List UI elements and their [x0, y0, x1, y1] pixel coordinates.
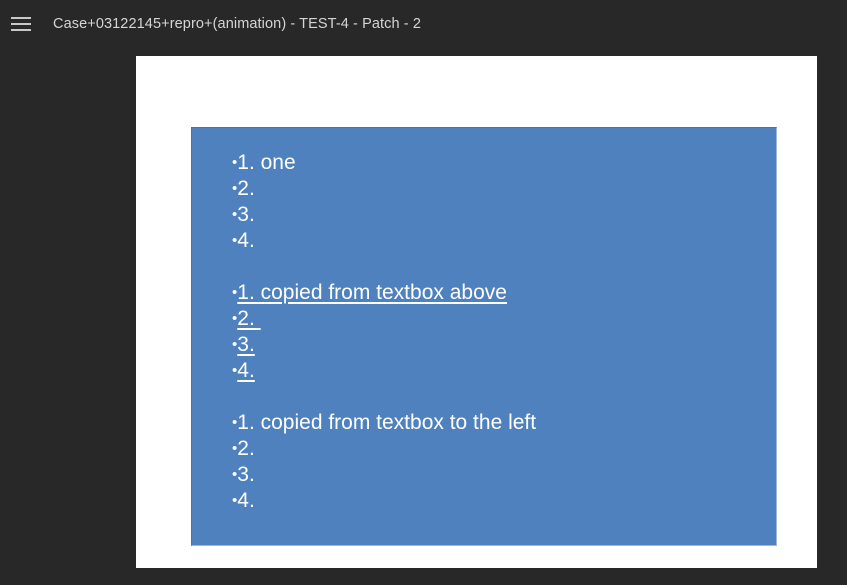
list-item-text: 2.: [237, 177, 255, 200]
bullet-list: •1. one •2. •3. •4. •1. copied from text…: [232, 150, 772, 514]
block-spacer: [232, 254, 772, 280]
list-item-text: 1. copied from textbox to the left: [237, 411, 536, 434]
hamburger-bar-middle: [11, 23, 31, 25]
hamburger-bar-top: [11, 17, 31, 19]
list-item: •1. one: [232, 150, 772, 176]
list-item: •2.: [232, 436, 772, 462]
list-item: •4.: [232, 488, 772, 514]
title-bar: Case+03122145+repro+(animation) - TEST-4…: [0, 0, 847, 48]
list-item-text: 2.: [237, 307, 260, 330]
list-item-text: 4.: [237, 359, 255, 382]
list-item-text: 1. one: [237, 151, 295, 174]
list-item-text: 4.: [237, 489, 255, 512]
list-item: •1. copied from textbox to the left: [232, 410, 772, 436]
list-item-text: 3.: [237, 463, 255, 486]
list-item: •4.: [232, 358, 772, 384]
bullet-block-2[interactable]: •1. copied from textbox above •2. •3. •4…: [232, 280, 772, 384]
bullet-block-3[interactable]: •1. copied from textbox to the left •2. …: [232, 410, 772, 514]
list-item: •2.: [232, 306, 772, 332]
list-item: •3.: [232, 202, 772, 228]
list-item: •2.: [232, 176, 772, 202]
list-item: •3.: [232, 462, 772, 488]
list-item-text: 3.: [237, 203, 255, 226]
slide-textbox[interactable]: •1. one •2. •3. •4. •1. copied from text…: [191, 127, 777, 546]
list-item: •4.: [232, 228, 772, 254]
block-spacer: [232, 384, 772, 410]
list-item-text: 4.: [237, 229, 255, 252]
hamburger-bar-bottom: [11, 29, 31, 31]
list-item-text: 1. copied from textbox above: [237, 281, 507, 304]
window-title: Case+03122145+repro+(animation) - TEST-4…: [53, 15, 421, 33]
bullet-block-1[interactable]: •1. one •2. •3. •4.: [232, 150, 772, 254]
list-item: •3.: [232, 332, 772, 358]
hamburger-icon[interactable]: [8, 11, 34, 37]
app-window: Case+03122145+repro+(animation) - TEST-4…: [0, 0, 847, 585]
list-item-text: 3.: [237, 333, 255, 356]
slide-canvas[interactable]: •1. one •2. •3. •4. •1. copied from text…: [136, 56, 817, 568]
list-item-text: 2.: [237, 437, 255, 460]
list-item: •1. copied from textbox above: [232, 280, 772, 306]
